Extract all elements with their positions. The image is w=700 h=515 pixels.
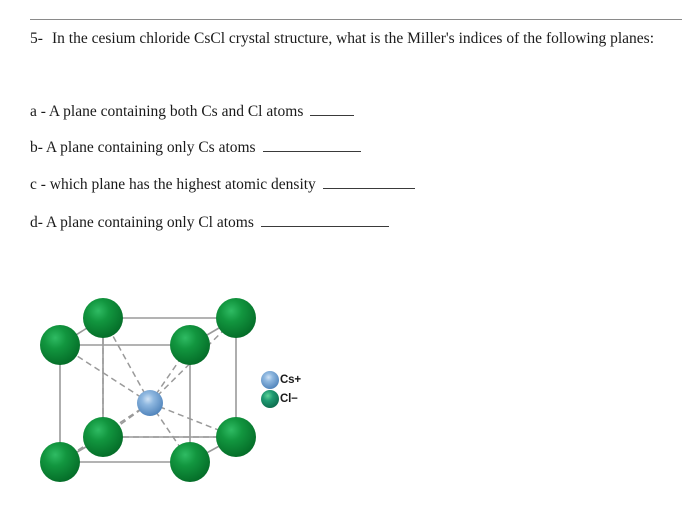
legend-cesium-charge: +	[294, 374, 301, 386]
legend-chlorine-label: Cl	[280, 393, 291, 405]
cl-atom-back-bottom-left	[83, 417, 123, 457]
cl-atom-front-bottom-right	[170, 442, 210, 482]
sub-question-b-answer-blank[interactable]	[263, 136, 361, 152]
sub-question-a-label: a - A plane containing both Cs and Cl at…	[30, 102, 303, 122]
sub-question-b-label: b- A plane containing only Cs atoms	[30, 138, 256, 158]
question-text: In the cesium chloride CsCl crystal stru…	[52, 28, 680, 50]
sub-question-c-answer-blank[interactable]	[323, 173, 415, 189]
cube-front-face	[60, 345, 190, 462]
cl-atom-back-top-left	[83, 298, 123, 338]
sub-question-d-label: d- A plane containing only Cl atoms	[30, 213, 254, 233]
question-main-line: 5- In the cesium chloride CsCl crystal s…	[30, 28, 680, 50]
cl-atom-front-top-right	[170, 325, 210, 365]
sub-question-c: c - which plane has the highest atomic d…	[30, 173, 415, 195]
chlorine-corner-atoms	[40, 298, 256, 482]
question-number: 5-	[30, 28, 52, 50]
legend-chlorine-charge: −	[291, 393, 298, 405]
sub-question-a-answer-blank[interactable]	[310, 100, 354, 116]
cs-atom-body-center	[137, 390, 163, 416]
sub-question-d: d- A plane containing only Cl atoms	[30, 211, 389, 233]
cl-atom-front-bottom-left	[40, 442, 80, 482]
sub-question-d-answer-blank[interactable]	[261, 211, 389, 227]
sub-question-c-label: c - which plane has the highest atomic d…	[30, 175, 316, 195]
cl-atom-back-top-right	[216, 298, 256, 338]
top-horizontal-rule	[30, 19, 682, 20]
question-block: 5- In the cesium chloride CsCl crystal s…	[30, 28, 680, 50]
sub-question-b: b- A plane containing only Cs atoms	[30, 136, 361, 158]
cl-atom-front-top-left	[40, 325, 80, 365]
legend-row-cesium: Cs+	[280, 371, 301, 389]
cube-back-face	[103, 318, 236, 437]
cl-atom-back-bottom-right	[216, 417, 256, 457]
cube-hidden-edges	[60, 318, 236, 437]
legend-row-chlorine: Cl−	[280, 390, 301, 408]
legend-cesium-label: Cs	[280, 374, 294, 386]
sub-question-a: a - A plane containing both Cs and Cl at…	[30, 100, 354, 122]
figure-legend: Cs+ Cl−	[280, 371, 301, 408]
legend-cl-icon	[261, 390, 279, 408]
worksheet-page: 5- In the cesium chloride CsCl crystal s…	[0, 0, 700, 515]
legend-cs-icon	[261, 371, 279, 389]
cscl-crystal-figure	[30, 296, 350, 511]
